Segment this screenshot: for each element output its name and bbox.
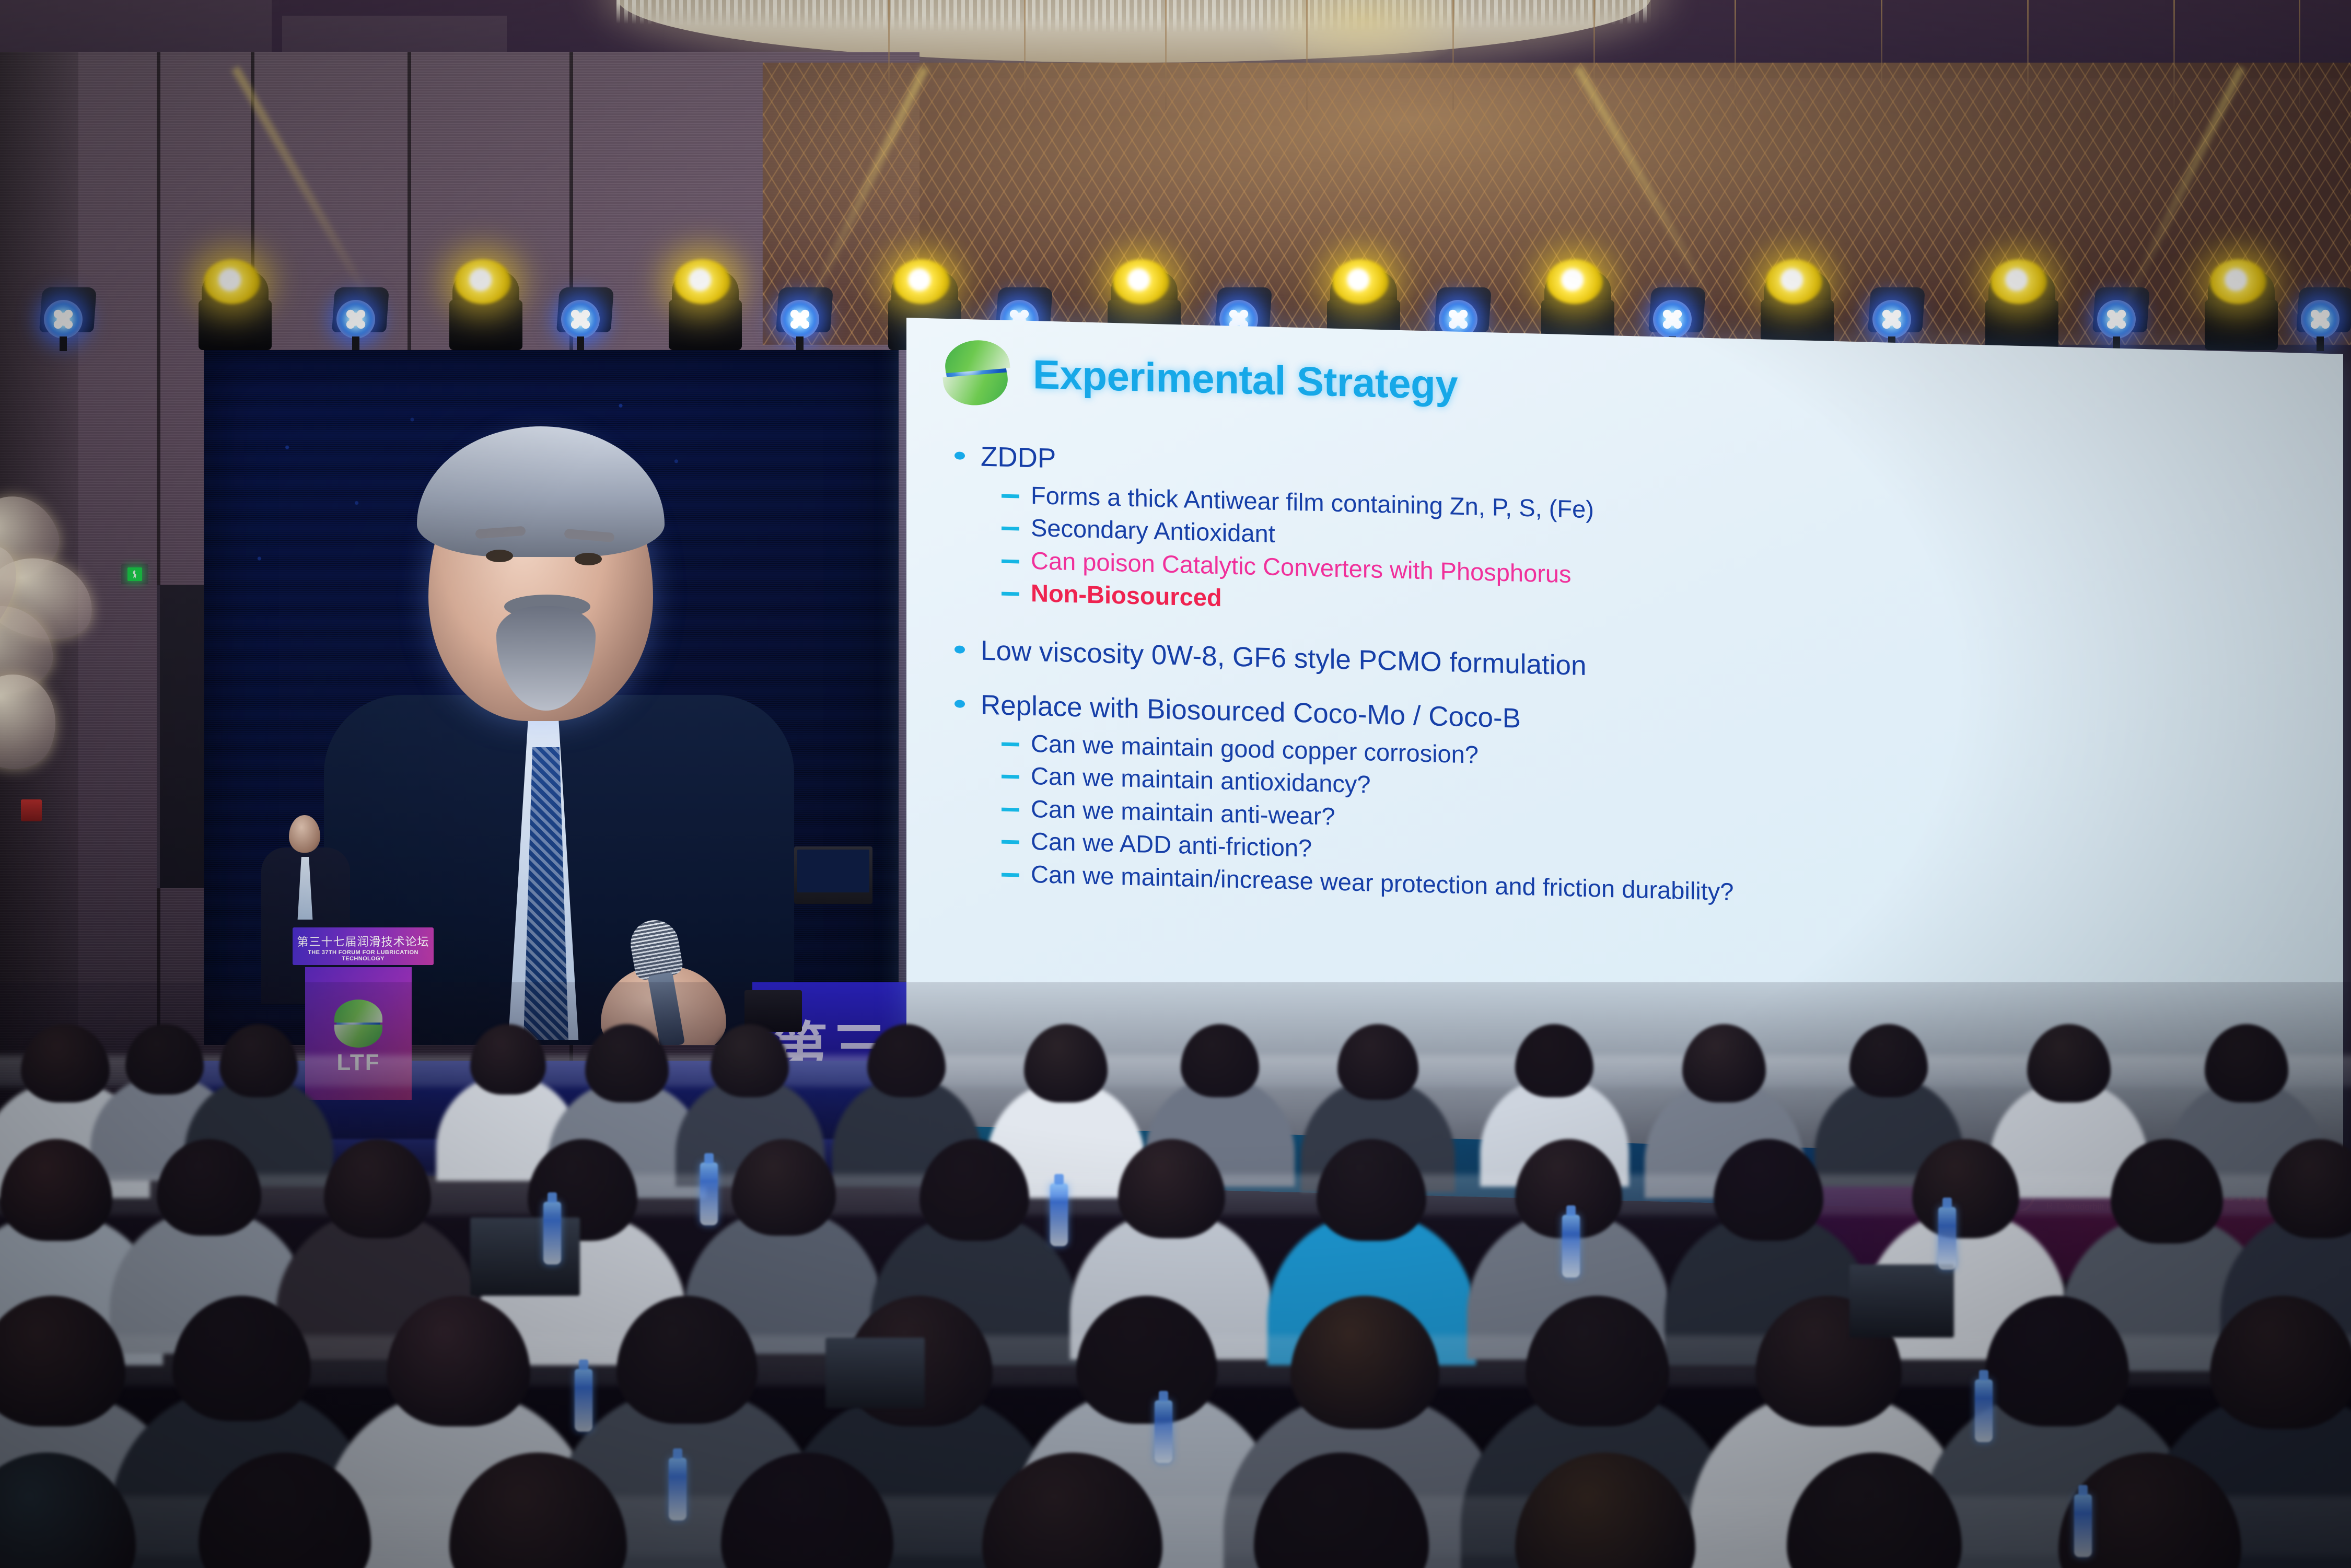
water-bottle xyxy=(1562,1215,1580,1277)
bullet-dash-icon xyxy=(1002,742,1019,746)
audience-member-head xyxy=(585,1024,669,1102)
podium-title-chinese: 第三十七届润滑技术论坛 xyxy=(293,933,434,949)
bullet-dash-icon xyxy=(1002,592,1019,596)
water-bottle xyxy=(1155,1400,1172,1463)
audience-member-head xyxy=(711,1024,789,1097)
audience-area xyxy=(0,982,2351,1568)
audience-member-head xyxy=(1682,1024,1766,1102)
moving-head-spotlight xyxy=(2194,255,2288,349)
audience-member-head xyxy=(470,1024,546,1095)
bullet-dot-icon xyxy=(955,451,965,460)
led-par-light xyxy=(554,282,616,350)
bullet-dot-icon xyxy=(955,700,965,708)
moving-head-spotlight xyxy=(439,255,533,349)
audience-member-head xyxy=(1515,1024,1593,1097)
audience-laptop xyxy=(1849,1264,1954,1338)
led-par-light xyxy=(2090,282,2152,350)
bullet-dash-icon xyxy=(1002,559,1019,563)
water-bottle xyxy=(575,1369,592,1432)
bullet-dash-icon xyxy=(1002,840,1019,844)
bullet-dash-icon xyxy=(1002,807,1019,811)
bullet-dot-icon xyxy=(955,645,965,654)
bullet-dash-icon xyxy=(1002,775,1019,779)
water-bottle xyxy=(669,1458,686,1520)
slide-subbullet-text: Non-Biosourced xyxy=(1031,579,1222,612)
podium-header-sign: 第三十七届润滑技术论坛 THE 37TH FORUM FOR LUBRICATI… xyxy=(293,927,434,965)
slide-subbullet-text: Can we ADD anti-friction? xyxy=(1031,827,1312,863)
audience-member-head xyxy=(1024,1024,1108,1102)
moving-head-spotlight xyxy=(1750,255,1844,349)
slide-subbullet-text: Can we maintain anti-wear? xyxy=(1031,795,1335,831)
audience-laptop xyxy=(470,1217,580,1296)
conference-photo: 第三 THE 3 Experimental Strategy ZDDPForms… xyxy=(0,0,2351,1568)
presenter-laptop xyxy=(794,846,872,904)
audience-member-head xyxy=(867,1024,946,1097)
moving-head-spotlight xyxy=(188,255,282,349)
moving-head-spotlight xyxy=(658,255,752,349)
slide-subbullet-text: Can we maintain antioxidancy? xyxy=(1031,762,1371,799)
bullet-dash-icon xyxy=(1002,873,1019,877)
water-bottle xyxy=(1050,1183,1068,1246)
slide-body: ZDDPForms a thick Antiwear film containi… xyxy=(943,440,2314,921)
fire-alarm-device xyxy=(21,799,42,821)
podium-title-english: THE 37TH FORUM FOR LUBRICATION TECHNOLOG… xyxy=(293,949,434,962)
audience-member-head xyxy=(1337,1024,1418,1100)
led-par-light xyxy=(773,282,836,350)
slide-header: Experimental Strategy xyxy=(943,339,2314,440)
water-bottle xyxy=(2074,1494,2092,1557)
crystal-flower-wall-lamp xyxy=(0,491,110,836)
water-bottle xyxy=(700,1163,718,1225)
audience-member-head xyxy=(1181,1024,1259,1097)
running-man-icon xyxy=(127,567,142,581)
water-bottle xyxy=(1975,1379,1993,1442)
slide-subbullet-text: Secondary Antioxidant xyxy=(1031,514,1275,548)
led-par-light xyxy=(37,282,99,350)
chandelier-crystal-drops xyxy=(616,0,1651,57)
moving-head-spotlight xyxy=(1975,255,2069,349)
table-cloth xyxy=(0,1055,2351,1087)
audience-member-head xyxy=(219,1024,298,1097)
bullet-dash-icon xyxy=(1002,494,1019,498)
audience-member-head xyxy=(324,1139,431,1238)
slide-title: Experimental Strategy xyxy=(1033,351,1458,409)
slide-bullet-text: ZDDP xyxy=(981,441,1056,475)
water-bottle xyxy=(543,1202,561,1264)
bullet-dash-icon xyxy=(1002,527,1019,531)
audience-member-head xyxy=(125,1024,204,1095)
emergency-exit-sign xyxy=(121,564,148,584)
led-par-light xyxy=(1865,282,1928,350)
led-par-light xyxy=(2294,282,2351,350)
audience-member-head xyxy=(21,1024,110,1102)
vanderbilt-globe-logo xyxy=(943,339,1010,407)
water-bottle xyxy=(1938,1207,1956,1270)
chandelier-glow xyxy=(1254,0,1473,73)
audience-member-head xyxy=(2027,1024,2111,1102)
audience-member-head xyxy=(2205,1024,2288,1102)
audience-member-head xyxy=(1849,1024,1928,1097)
audience-laptop xyxy=(825,1338,925,1408)
